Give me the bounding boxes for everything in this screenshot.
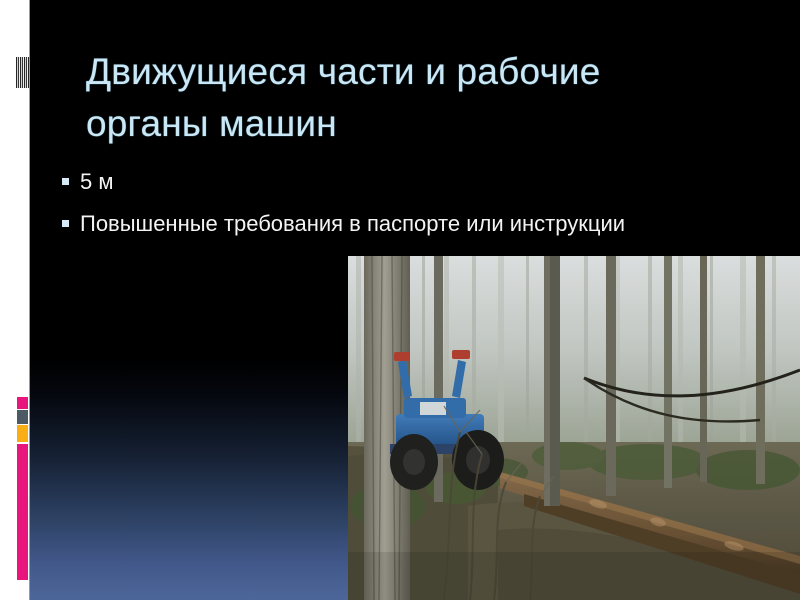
bullet-list: 5 м Повышенные требования в паспорте или…	[62, 165, 702, 249]
forest-skidder-photo	[348, 256, 800, 600]
photo-artwork	[348, 256, 800, 600]
bullet-text: 5 м	[80, 165, 113, 198]
square-bullet-icon	[62, 220, 69, 227]
list-item: Повышенные требования в паспорте или инс…	[62, 207, 702, 240]
bullet-text: Повышенные требования в паспорте или инс…	[80, 207, 625, 240]
striped-bar-decoration	[16, 57, 29, 88]
list-item: 5 м	[62, 165, 702, 198]
presentation-slide: Движущиеся части и рабочие органы машин …	[0, 0, 800, 600]
slide-title: Движущиеся части и рабочие органы машин	[86, 46, 776, 150]
chip-amber	[17, 425, 28, 442]
chip-long-pink	[17, 444, 28, 580]
square-bullet-icon	[62, 178, 69, 185]
chip-slate	[17, 410, 28, 424]
chip-pink	[17, 397, 28, 409]
